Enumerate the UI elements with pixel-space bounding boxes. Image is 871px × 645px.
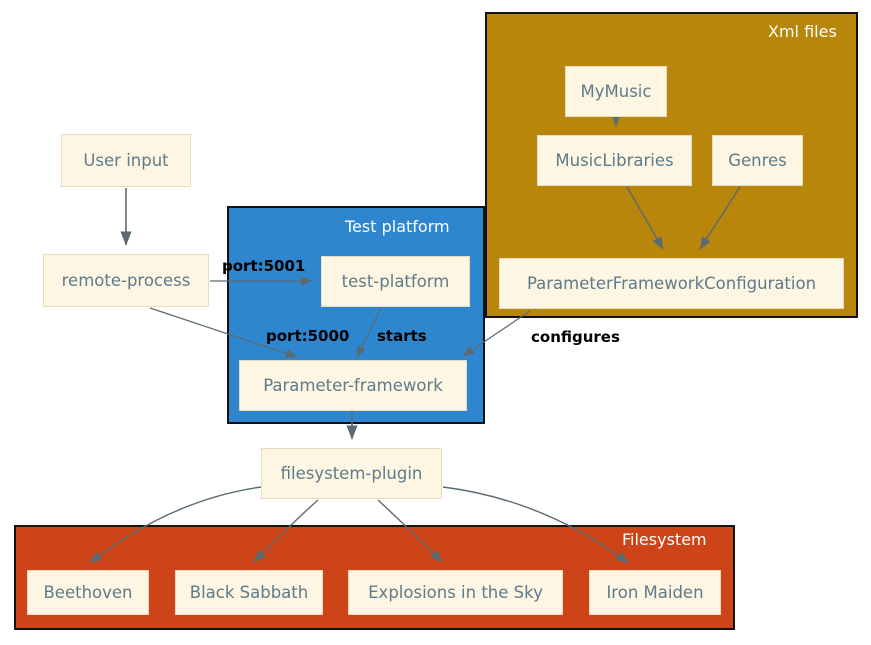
node-iron-maiden[interactable]: Iron Maiden	[589, 570, 721, 615]
edge-label-port-5001: port:5001	[222, 259, 305, 274]
node-test-platform[interactable]: test-platform	[321, 256, 470, 307]
node-parameter-framework[interactable]: Parameter-framework	[239, 360, 467, 411]
cluster-label-test-platform: Test platform	[345, 219, 450, 235]
cluster-label-filesystem: Filesystem	[622, 532, 707, 548]
node-user-input[interactable]: User input	[61, 134, 191, 187]
diagram-canvas: Xml files Test platform Filesystem port:…	[0, 0, 871, 645]
edge-label-port-5000: port:5000	[266, 329, 349, 344]
node-mymusic[interactable]: MyMusic	[565, 66, 667, 117]
node-beethoven[interactable]: Beethoven	[27, 570, 149, 615]
node-black-sabbath[interactable]: Black Sabbath	[175, 570, 323, 615]
node-filesystem-plugin[interactable]: filesystem-plugin	[261, 448, 442, 499]
edge-label-starts: starts	[377, 329, 427, 344]
node-remote-process[interactable]: remote-process	[43, 254, 209, 307]
node-parameterframeworkconfiguration[interactable]: ParameterFrameworkConfiguration	[499, 258, 844, 309]
cluster-label-xml-files: Xml files	[768, 24, 837, 40]
node-musiclibraries[interactable]: MusicLibraries	[537, 135, 692, 186]
node-genres[interactable]: Genres	[712, 135, 803, 186]
node-explosions-in-the-sky[interactable]: Explosions in the Sky	[348, 570, 563, 615]
edge-label-configures: configures	[531, 330, 620, 345]
